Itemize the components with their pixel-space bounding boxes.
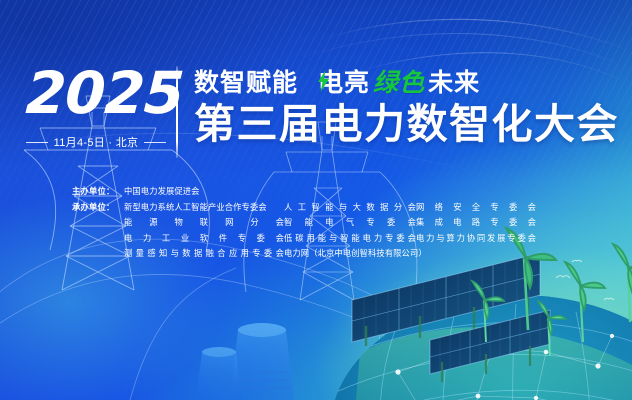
rule-right (144, 142, 166, 143)
organizer-col-b: 低碳用能与智能电力专委会 (284, 231, 416, 247)
organizer-col-b: 智能电气专委会 (284, 215, 416, 231)
organizer-row: 能源物联网分会 智能电气专委会 集成电路专委会 (72, 215, 536, 231)
host-value: 中国电力发展促进会 (124, 184, 284, 200)
organizer-row: 测量感知与数据融合应用专委会 电力网（北京中电创智科技有限公司） (72, 246, 536, 262)
organizer-row: 电力工业软件专委会 低碳用能与智能电力专委会 电力与算力协同发展专委会 (72, 231, 536, 247)
page-title: 第三届电力数智化大会 (194, 101, 619, 147)
organizer-col-b: 电力网（北京中电创智科技有限公司） (284, 246, 416, 262)
organizer-col-a: 测量感知与数据融合应用专委会 (124, 246, 284, 262)
organizer-col-c: 集成电路专委会 (416, 215, 536, 231)
rule-left (26, 142, 48, 143)
slogan-part-2-rest: 亮 (344, 68, 370, 98)
organizer-col-a: 电力工业软件专委会 (124, 231, 284, 247)
organizer-row: 承办单位： 新型电力系统人工智能产业合作专委会 人工智能与大数据分会 网络安全专… (72, 200, 536, 216)
slogan-line: 数智赋能 电 亮 绿色 未来 (194, 68, 619, 98)
date-location-row: 11月4-5日 · 北京 (26, 134, 166, 150)
banner-header: 2025 11月4-5日 · 北京 数智赋能 电 亮 绿色 未来 (26, 62, 619, 158)
organizer-col-b: 人工智能与大数据分会 (284, 200, 416, 216)
coorganizer-label: 承办单位： (72, 200, 124, 216)
year-block: 2025 11月4-5日 · 北京 (26, 62, 166, 150)
slogan-part-4: 未来 (428, 68, 480, 98)
slogan-part-2-char: 电 (318, 69, 344, 97)
date-location-text: 11月4-5日 · 北京 (54, 134, 139, 150)
organizer-col-c: 网络安全专委会 (416, 200, 536, 216)
slogan-part-3-green: 绿色 (370, 68, 428, 98)
year-text: 2025 (24, 64, 167, 122)
organizers-block: 主办单位： 中国电力发展促进会 承办单位： 新型电力系统人工智能产业合作专委会 … (72, 184, 536, 262)
host-line: 主办单位： 中国电力发展促进会 (72, 184, 536, 200)
organizer-col-a: 能源物联网分会 (124, 215, 284, 231)
slogan-electric-char: 电 (318, 68, 344, 98)
organizer-col-c: 电力与算力协同发展专委会 (416, 231, 536, 247)
host-label: 主办单位： (72, 184, 124, 200)
organizer-col-a: 新型电力系统人工智能产业合作专委会 (124, 200, 284, 216)
title-block: 数智赋能 电 亮 绿色 未来 第三届电力数智化大会 (194, 62, 619, 147)
slogan-part-1: 数智赋能 (194, 68, 298, 98)
conference-banner: 2025 11月4-5日 · 北京 数智赋能 电 亮 绿色 未来 (0, 0, 632, 400)
